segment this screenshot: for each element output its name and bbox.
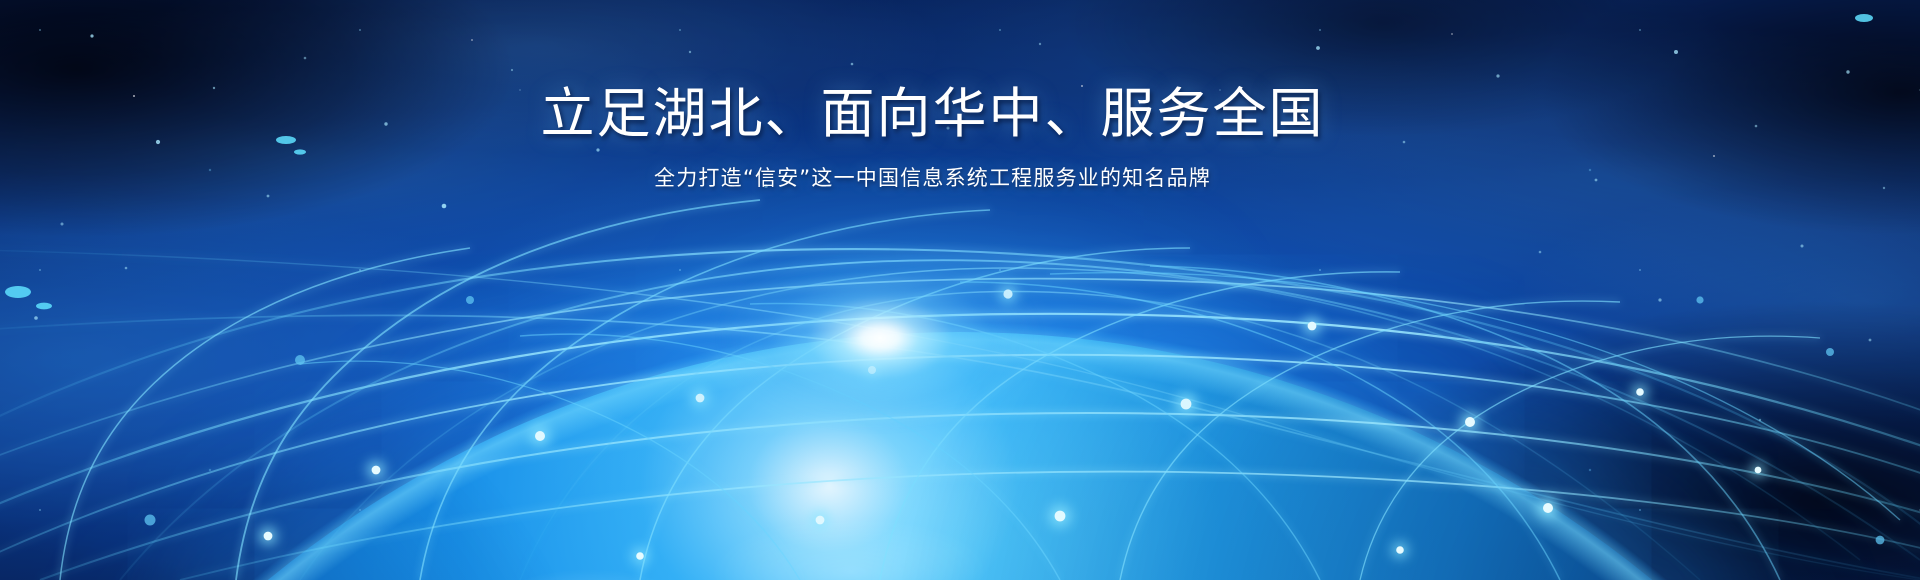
- hero-banner: 立足湖北、面向华中、服务全国 全力打造“信安”这一中国信息系统工程服务业的知名品…: [0, 0, 1920, 580]
- page-subtitle: 全力打造“信安”这一中国信息系统工程服务业的知名品牌: [0, 164, 1865, 193]
- banner-text-block: 立足湖北、面向华中、服务全国 全力打造“信安”这一中国信息系统工程服务业的知名品…: [0, 82, 1865, 193]
- light-burst-icon: [715, 243, 1045, 433]
- page-title: 立足湖北、面向华中、服务全国: [0, 82, 1865, 146]
